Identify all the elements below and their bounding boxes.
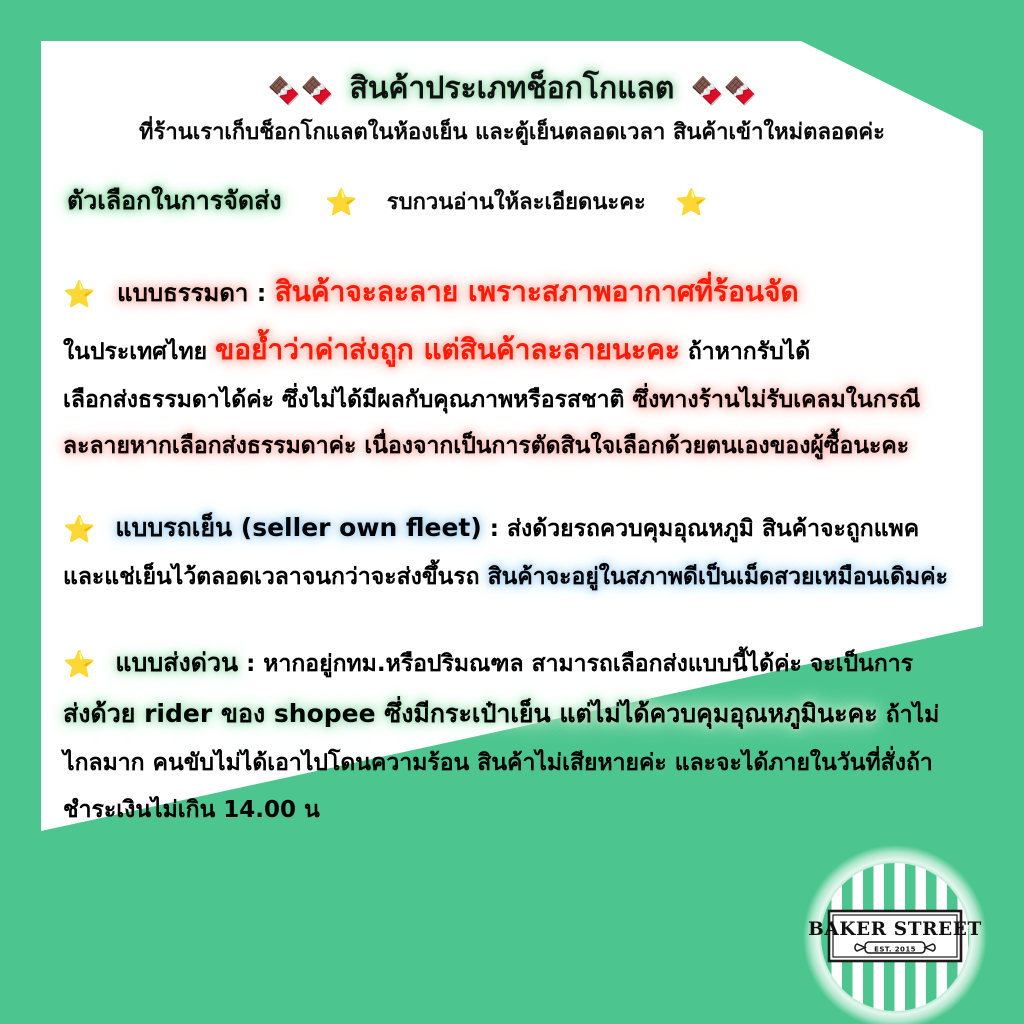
option-line: ส่งด้วย rider ของ shopee ซึ่งมีกระเป๋าเย… <box>63 694 983 734</box>
option-text: ชำระเงินไม่เกิน 14.00 น <box>63 797 320 823</box>
option-emphasis: ส่งด้วย rider ของ shopee ซึ่งมีกระเป๋าเย… <box>63 699 878 728</box>
option-emphasis: สินค้าจะละลาย เพราะสภาพอากาศที่ร้อนจัด <box>275 275 799 308</box>
shipping-options-heading: ตัวเลือกในการจัดส่ง ⭐ รบกวนอ่านให้ละเอีย… <box>41 186 983 219</box>
chocolate-icon: 🍫 <box>724 76 757 107</box>
option-line: เลือกส่งธรรมดาได้ค่ะ ซึ่งไม่ได้มีผลกับคุ… <box>63 382 983 418</box>
page-title: สินค้าประเภทช็อกโกแลต <box>344 71 681 106</box>
option-text: ถ้าไม่ <box>878 702 940 728</box>
option-line: ⭐ แบบส่งด่วน : หากอยู่กทม.หรือปริมณฑล สา… <box>63 643 983 683</box>
star-icon: ⭐ <box>63 650 95 680</box>
option-text: ในประเทศไทย <box>63 339 215 365</box>
chocolate-icon: 🍫 <box>691 76 724 107</box>
shipping-option-express: ⭐ แบบส่งด่วน : หากอยู่กทม.หรือปริมณฑล สา… <box>41 643 983 828</box>
option-label: แบบส่งด่วน <box>115 648 238 677</box>
brand-logo: BAKER STREET EST. 2015 <box>803 845 987 1024</box>
shipping-options-label: ตัวเลือกในการจัดส่ง <box>67 186 282 215</box>
logo-brand-text: BAKER STREET <box>808 919 982 940</box>
poster-body: 🍫🍫 สินค้าประเภทช็อกโกแลต 🍫🍫 ที่ร้านเราเก… <box>41 41 983 835</box>
option-emphasis: ละลายหากเลือกส่งธรรมดาค่ะ เนื่องจากเป็นก… <box>63 433 909 459</box>
option-line: ในประเทศไทย ขอย้ำว่าค่าส่งถูก แต่สินค้าล… <box>63 328 983 372</box>
shipping-option-standard: ⭐ แบบธรรมดา : สินค้าจะละลาย เพราะสภาพอาก… <box>41 270 983 464</box>
read-carefully-note: รบกวนอ่านให้ละเอียดนะคะ <box>387 190 646 215</box>
option-text: : ส่งด้วยรถควบคุมอุณหภูมิ สินค้าจะถูกแพค <box>482 516 919 542</box>
star-icon: ⭐ <box>675 188 707 218</box>
option-line: ละลายหากเลือกส่งธรรมดาค่ะ เนื่องจากเป็นก… <box>63 428 983 464</box>
chocolate-icon: 🍫 <box>268 76 301 107</box>
poster-canvas: 🍫🍫 สินค้าประเภทช็อกโกแลต 🍫🍫 ที่ร้านเราเก… <box>0 0 1024 1024</box>
title-row: 🍫🍫 สินค้าประเภทช็อกโกแลต 🍫🍫 <box>41 71 983 108</box>
option-line: ⭐ แบบธรรมดา : สินค้าจะละลาย เพราะสภาพอาก… <box>63 270 983 314</box>
option-label: แบบรถเย็น (seller own fleet) <box>115 513 481 542</box>
chocolate-icon: 🍫 <box>301 76 334 107</box>
page-subtitle: ที่ร้านเราเก็บช็อกโกแลตในห้องเย็น และตู้… <box>41 120 983 146</box>
option-emphasis: สินค้าจะอยู่ในสภาพดีเป็นเม็ดสวยเหมือนเดิ… <box>488 564 948 590</box>
option-text: เลือกส่งธรรมดาได้ค่ะ ซึ่งไม่ได้มีผลกับคุ… <box>63 387 632 413</box>
option-label: แบบธรรมดา <box>117 279 248 307</box>
content-card: 🍫🍫 สินค้าประเภทช็อกโกแลต 🍫🍫 ที่ร้านเราเก… <box>41 41 983 928</box>
star-icon: ⭐ <box>325 188 357 218</box>
option-emphasis: ขอย้ำว่าค่าส่งถูก แต่สินค้าละลายนะคะ <box>215 333 680 366</box>
shipping-option-cold-truck: ⭐ แบบรถเย็น (seller own fleet) : ส่งด้วย… <box>41 508 983 595</box>
option-text: ถ้าหากรับได้ <box>680 339 810 365</box>
option-line: ไกลมาก คนขับไม่ได้เอาไปโดนความร้อน สินค้… <box>63 745 983 781</box>
option-line: ชำระเงินไม่เกิน 14.00 น <box>63 792 983 828</box>
option-line: ⭐ แบบรถเย็น (seller own fleet) : ส่งด้วย… <box>63 508 983 548</box>
star-icon: ⭐ <box>63 515 95 545</box>
separator: : <box>248 279 274 307</box>
option-emphasis: ซึ่งทางร้านไม่รับเคลมในกรณี <box>632 387 920 413</box>
option-line: และแช่เย็นไว้ตลอดเวลาจนกว่าจะส่งขึ้นรถ ส… <box>63 559 983 595</box>
option-text: : หากอยู่กทม.หรือปริมณฑล สามารถเลือกส่งแ… <box>238 651 913 677</box>
logo-established-text: EST. 2015 <box>874 946 916 954</box>
option-text: ไกลมาก คนขับไม่ได้เอาไปโดนความร้อน สินค้… <box>63 750 933 776</box>
baker-street-logo-svg: BAKER STREET EST. 2015 <box>803 845 987 1024</box>
star-icon: ⭐ <box>63 280 95 310</box>
option-text: และแช่เย็นไว้ตลอดเวลาจนกว่าจะส่งขึ้นรถ <box>63 564 488 590</box>
